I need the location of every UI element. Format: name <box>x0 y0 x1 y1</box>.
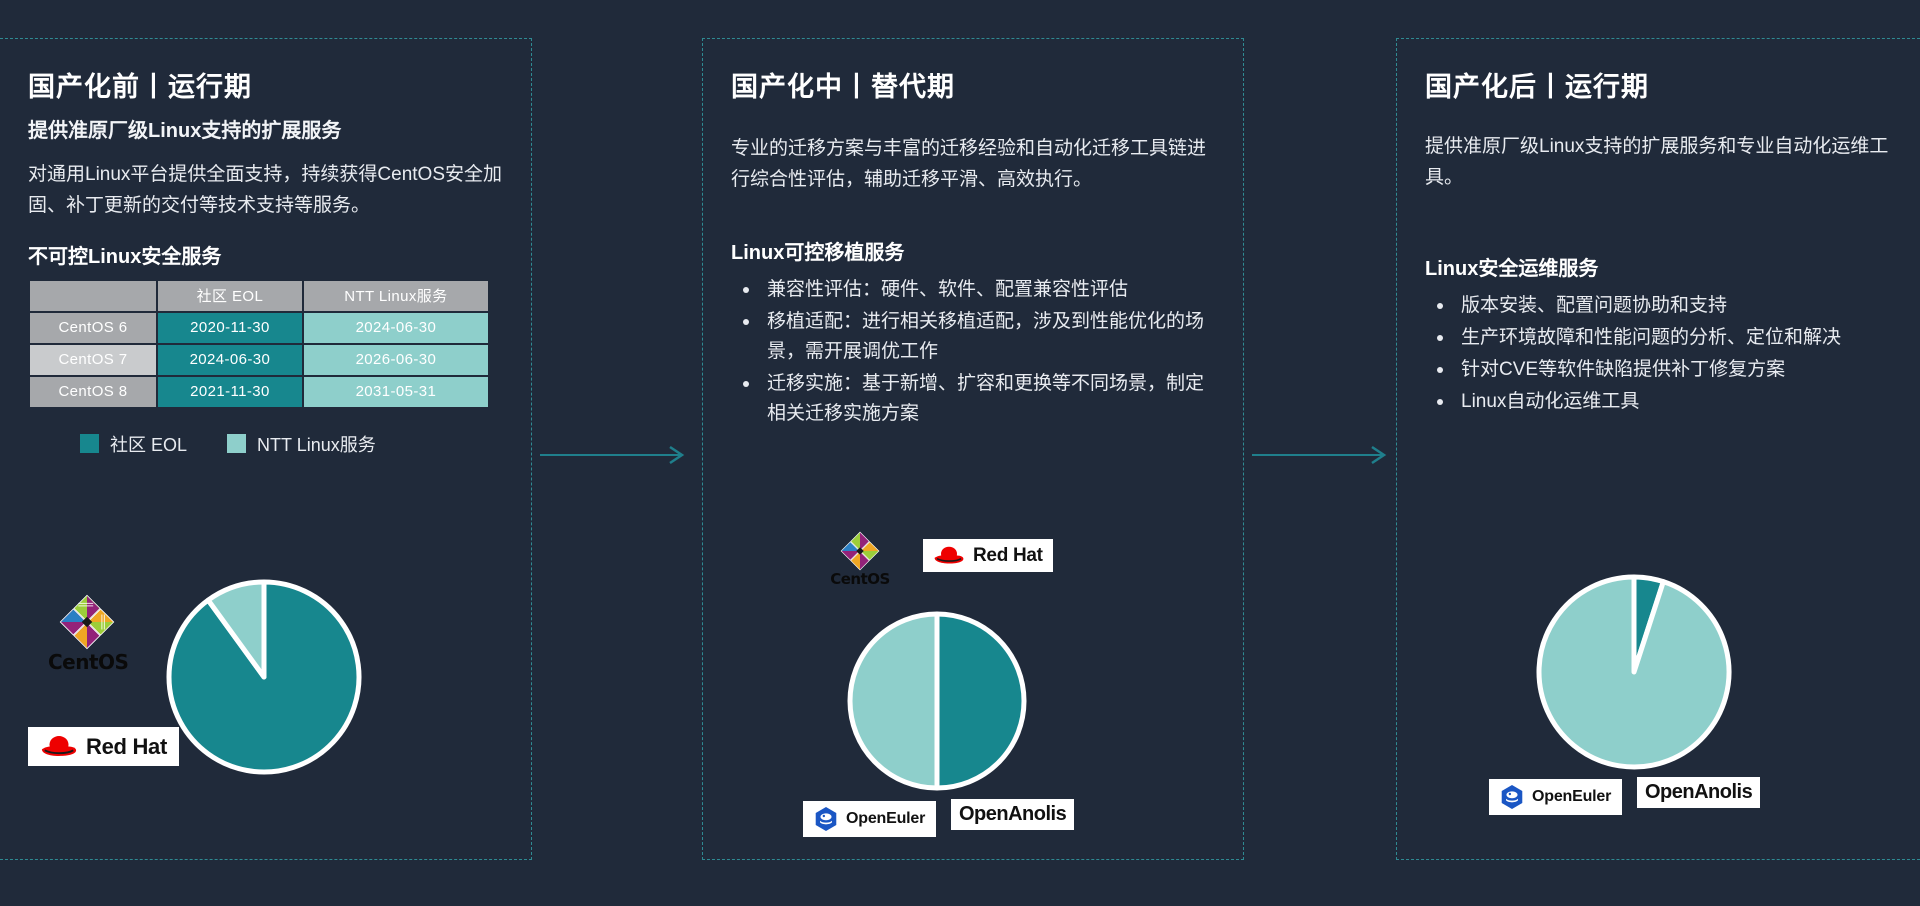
pie-slice <box>850 614 937 788</box>
panel-subtitle: 提供准原厂级Linux支持的扩展服务 <box>28 116 503 146</box>
legend-swatch-icon <box>80 434 99 453</box>
section-title: Linux可控移植服务 <box>731 236 1215 265</box>
centos-mark-icon <box>56 591 118 653</box>
table-cell-os: CentOS 7 <box>30 345 156 375</box>
redhat-fedora-icon <box>40 733 78 760</box>
redhat-fedora-icon <box>933 544 965 567</box>
redhat-wordmark: Red Hat <box>86 734 167 760</box>
list-item: 针对CVE等软件缺陷提供补丁修复方案 <box>1431 355 1892 385</box>
arrow-stage2-to-stage3 <box>1252 440 1392 470</box>
table-row: CentOS 7 2024-06-30 2026-06-30 <box>30 345 488 375</box>
list-item: 移植适配：进行相关移植适配，涉及到性能优化的场景，需开展调优工作 <box>737 307 1215 367</box>
list-item: 版本安装、配置问题协助和支持 <box>1431 291 1892 321</box>
pie-chart-before <box>158 571 370 788</box>
panel-description: 专业的迁移方案与丰富的迁移经验和自动化迁移工具链进行综合性评估，辅助迁移平滑、高… <box>731 134 1215 196</box>
pie-chart-during <box>842 606 1032 801</box>
openanolis-logo: OpenAnolis <box>1637 777 1760 808</box>
service-bullet-list: 版本安装、配置问题协助和支持 生产环境故障和性能问题的分析、定位和解决 针对CV… <box>1431 291 1892 417</box>
centos-wordmark: CentOS <box>48 650 126 674</box>
table-cell-os: CentOS 6 <box>30 313 156 343</box>
centos-logo: CentOS <box>48 591 126 674</box>
legend-label: 社区 EOL <box>110 431 187 457</box>
pie-slice <box>1539 577 1729 767</box>
table-row: CentOS 8 2021-11-30 2031-05-31 <box>30 377 488 407</box>
redhat-wordmark: Red Hat <box>973 545 1043 567</box>
section-title: 不可控Linux安全服务 <box>28 240 503 269</box>
pie-chart-after <box>1529 567 1739 782</box>
panel-title: 国产化前丨运行期 <box>28 65 503 104</box>
section-title: Linux安全运维服务 <box>1425 252 1892 281</box>
openeuler-wordmark: OpenEuler <box>1532 788 1611 806</box>
list-item: Linux自动化运维工具 <box>1431 387 1892 417</box>
centos-logo: CentOS <box>821 529 899 588</box>
centos-mark-icon <box>838 529 882 573</box>
legend-item-ntt-service: NTT Linux服务 <box>227 431 376 457</box>
pie-legend: 社区 EOL NTT Linux服务 <box>80 431 503 457</box>
openanolis-wordmark: OpenAnolis <box>1645 781 1752 804</box>
openeuler-logo: OpenEuler <box>803 801 936 837</box>
pie-chart-svg <box>1529 567 1739 777</box>
redhat-logo: Red Hat <box>28 727 179 766</box>
arrow-stage1-to-stage2 <box>540 440 690 470</box>
panel-before-localization: 国产化前丨运行期 提供准原厂级Linux支持的扩展服务 对通用Linux平台提供… <box>0 38 532 860</box>
table-cell-ntt-service: 2024-06-30 <box>304 313 488 343</box>
panel-title: 国产化后丨运行期 <box>1425 65 1892 104</box>
panel-after-localization: 国产化后丨运行期 提供准原厂级Linux支持的扩展服务和专业自动化运维工具。 L… <box>1396 38 1920 860</box>
panel-during-localization: 国产化中丨替代期 专业的迁移方案与丰富的迁移经验和自动化迁移工具链进行综合性评估… <box>702 38 1244 860</box>
openanolis-leaf-icon <box>981 801 997 823</box>
table-cell-ntt-service: 2026-06-30 <box>304 345 488 375</box>
table-cell-community-eol: 2020-11-30 <box>158 313 302 343</box>
openanolis-logo: OpenAnolis <box>951 799 1074 830</box>
redhat-logo: Red Hat <box>923 539 1053 572</box>
pie-slice <box>937 614 1024 788</box>
table-row: CentOS 6 2020-11-30 2024-06-30 <box>30 313 488 343</box>
table-header-blank <box>30 281 156 311</box>
openeuler-mark-icon <box>1500 784 1524 810</box>
table-cell-os: CentOS 8 <box>30 377 156 407</box>
list-item: 生产环境故障和性能问题的分析、定位和解决 <box>1431 323 1892 353</box>
panel-description: 对通用Linux平台提供全面支持，持续获得CentOS安全加固、补丁更新的交付等… <box>28 160 503 222</box>
legend-item-community-eol: 社区 EOL <box>80 431 187 457</box>
table-cell-community-eol: 2024-06-30 <box>158 345 302 375</box>
legend-swatch-icon <box>227 434 246 453</box>
legend-label: NTT Linux服务 <box>257 431 376 457</box>
panel-description: 提供准原厂级Linux支持的扩展服务和专业自动化运维工具。 <box>1425 132 1892 194</box>
slide-root: 国产化前丨运行期 提供准原厂级Linux支持的扩展服务 对通用Linux平台提供… <box>0 0 1920 906</box>
list-item: 迁移实施：基于新增、扩容和更换等不同场景，制定相关迁移实施方案 <box>737 369 1215 429</box>
openeuler-mark-icon <box>814 806 838 832</box>
pie-chart-svg <box>842 606 1032 796</box>
table-cell-ntt-service: 2031-05-31 <box>304 377 488 407</box>
centos-wordmark: CentOS <box>821 570 899 588</box>
openeuler-logo: OpenEuler <box>1489 779 1622 815</box>
panel-title: 国产化中丨替代期 <box>731 65 1215 104</box>
list-item: 兼容性评估：硬件、软件、配置兼容性评估 <box>737 275 1215 305</box>
openeuler-wordmark: OpenEuler <box>846 810 925 828</box>
eol-table: 社区 EOL NTT Linux服务 CentOS 6 2020-11-30 2… <box>28 279 490 409</box>
table-header-row: 社区 EOL NTT Linux服务 <box>30 281 488 311</box>
table-cell-community-eol: 2021-11-30 <box>158 377 302 407</box>
pie-chart-svg <box>158 571 370 783</box>
table-header-ntt-service: NTT Linux服务 <box>304 281 488 311</box>
service-bullet-list: 兼容性评估：硬件、软件、配置兼容性评估 移植适配：进行相关移植适配，涉及到性能优… <box>737 275 1215 429</box>
table-header-community-eol: 社区 EOL <box>158 281 302 311</box>
openanolis-wordmark: OpenAnolis <box>959 803 1066 826</box>
